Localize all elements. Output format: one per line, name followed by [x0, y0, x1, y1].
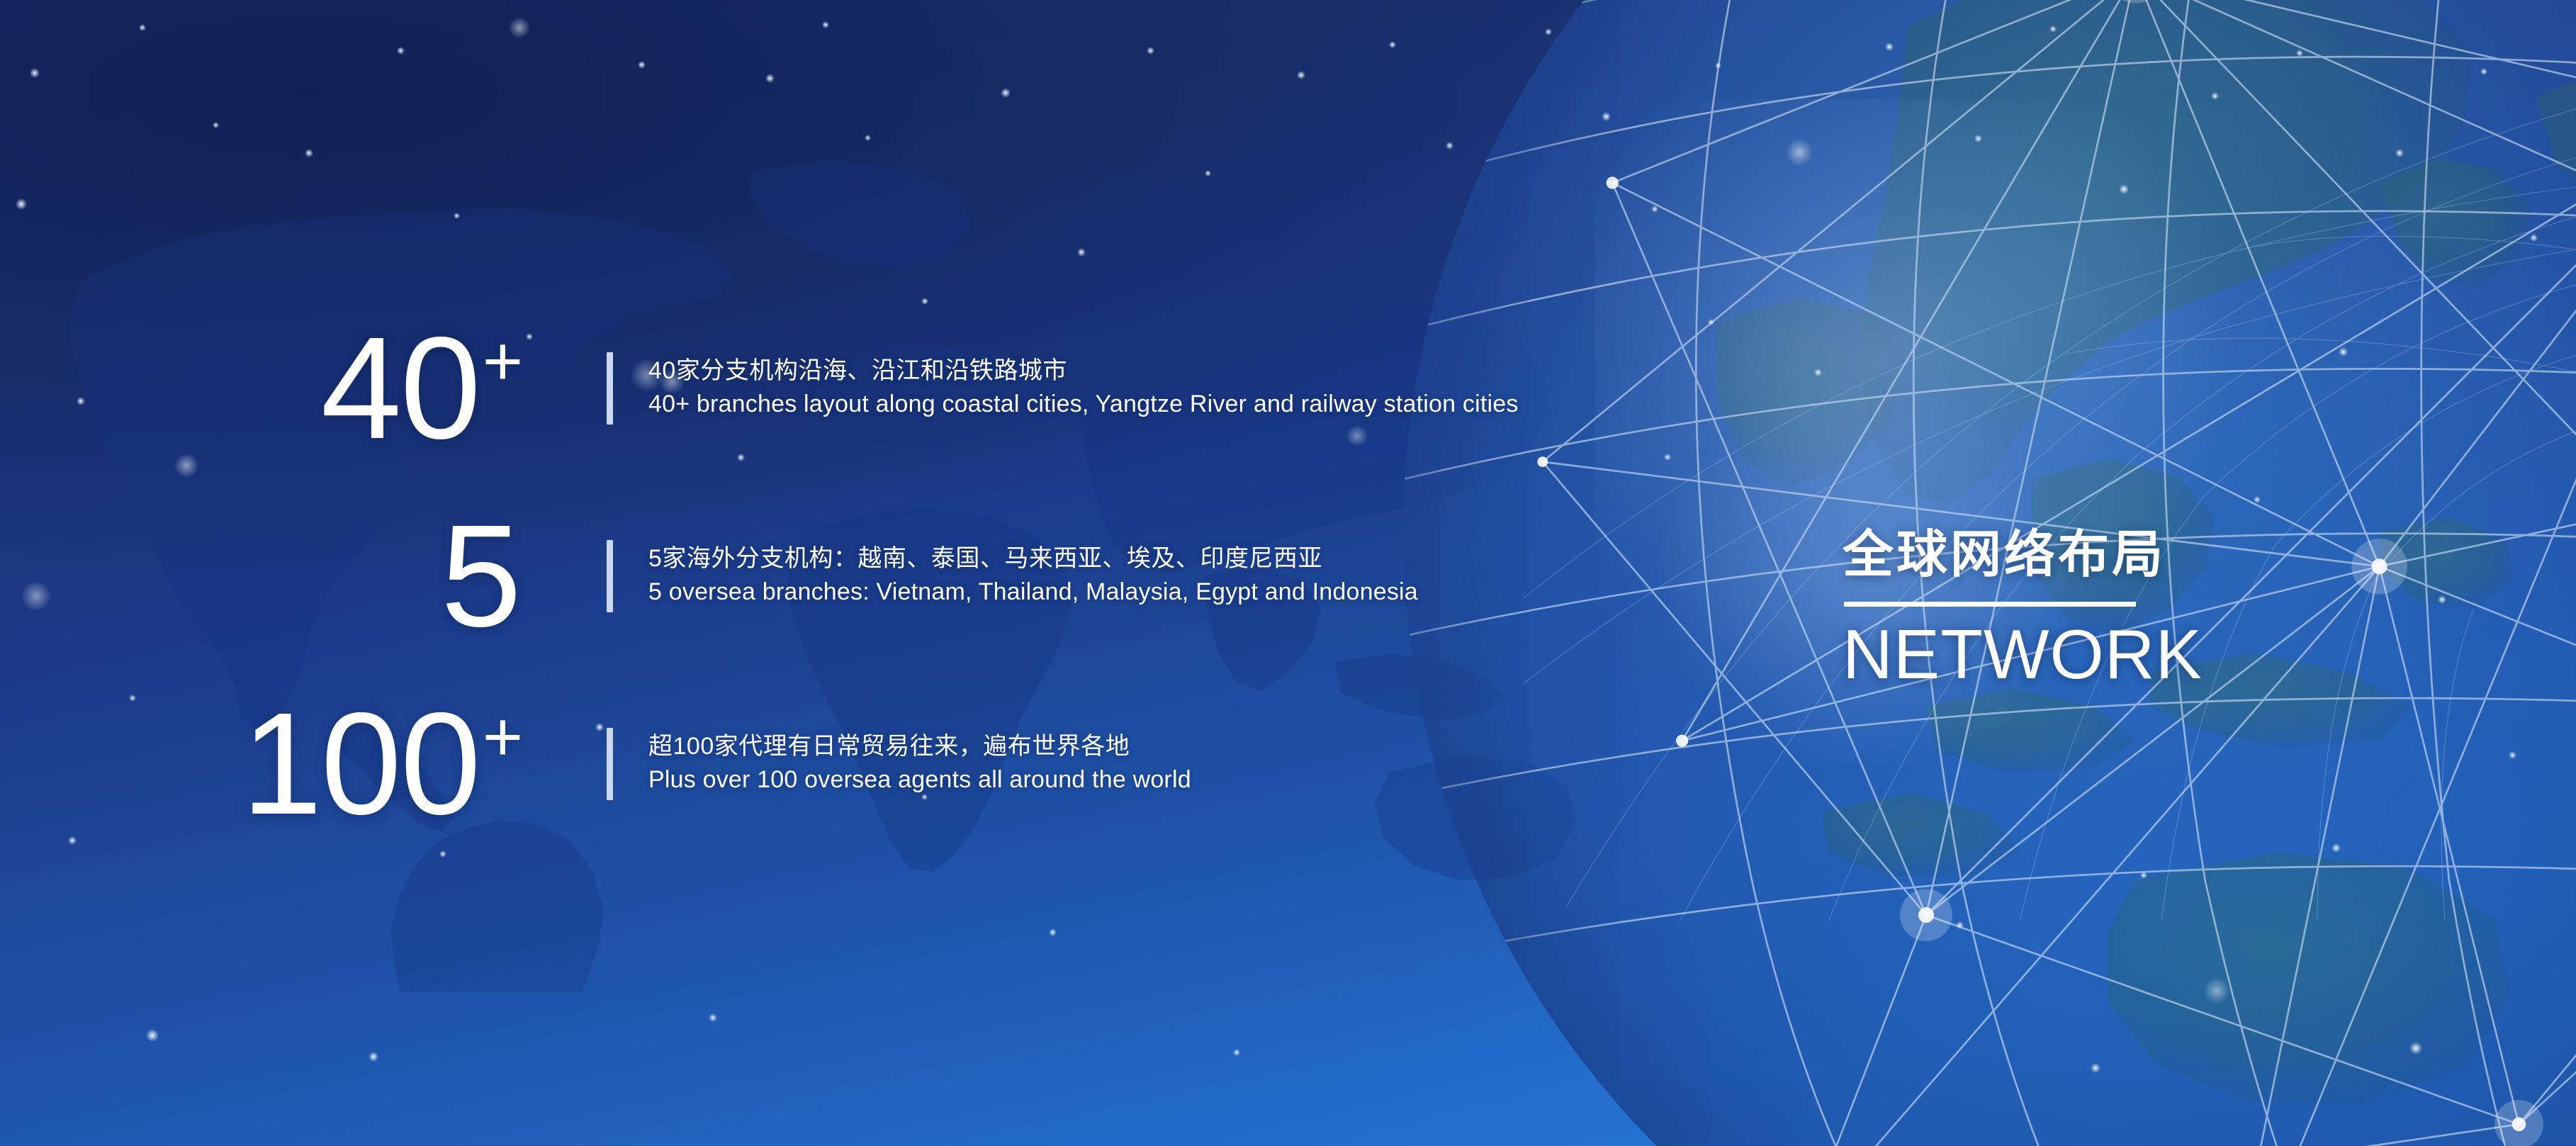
stat-divider — [607, 540, 613, 612]
stat-number: 5 — [0, 503, 539, 648]
stat-number: 40+ — [0, 315, 539, 461]
network-banner: 40+ 40家分支机构沿海、沿江和沿铁路城市 40+ branches layo… — [0, 0, 2576, 1146]
stat-number-value: 100 — [242, 682, 480, 845]
title-divider-rule — [1844, 602, 2136, 607]
stat-description-cn: 5家海外分支机构：越南、泰国、马来西亚、埃及、印度尼西亚 — [648, 543, 1418, 575]
stat-text: 5家海外分支机构：越南、泰国、马来西亚、埃及、印度尼西亚 5 oversea b… — [648, 543, 1418, 609]
stat-description-cn: 超100家代理有日常贸易往来，遍布世界各地 — [648, 731, 1191, 763]
stat-number-value: 5 — [441, 495, 520, 657]
stat-text: 超100家代理有日常贸易往来，遍布世界各地 Plus over 100 over… — [648, 731, 1191, 797]
stat-number-value: 40 — [321, 307, 480, 469]
stat-number-suffix: + — [483, 322, 523, 400]
stat-row: 40+ 40家分支机构沿海、沿江和沿铁路城市 40+ branches layo… — [0, 294, 1701, 482]
banner-title-block: 全球网络布局 NETWORK — [1843, 528, 2296, 691]
stats-list: 40+ 40家分支机构沿海、沿江和沿铁路城市 40+ branches layo… — [0, 294, 1701, 858]
stat-description-cn: 40家分支机构沿海、沿江和沿铁路城市 — [648, 355, 1519, 388]
stat-divider — [607, 352, 613, 425]
stat-row: 100+ 超100家代理有日常贸易往来，遍布世界各地 Plus over 100… — [0, 670, 1701, 858]
stat-description-en: 5 oversea branches: Vietnam, Thailand, M… — [648, 575, 1418, 609]
stat-text: 40家分支机构沿海、沿江和沿铁路城市 40+ branches layout a… — [648, 355, 1519, 421]
banner-title-en: NETWORK — [1843, 618, 2296, 691]
stat-row: 5 5家海外分支机构：越南、泰国、马来西亚、埃及、印度尼西亚 5 oversea… — [0, 482, 1701, 670]
stat-number: 100+ — [0, 691, 539, 836]
stat-number-suffix: + — [483, 697, 523, 775]
stat-description-en: Plus over 100 oversea agents all around … — [648, 763, 1191, 797]
stat-description-en: 40+ branches layout along coastal cities… — [648, 388, 1519, 422]
stat-divider — [607, 728, 613, 800]
banner-title-cn: 全球网络布局 — [1843, 528, 2296, 583]
